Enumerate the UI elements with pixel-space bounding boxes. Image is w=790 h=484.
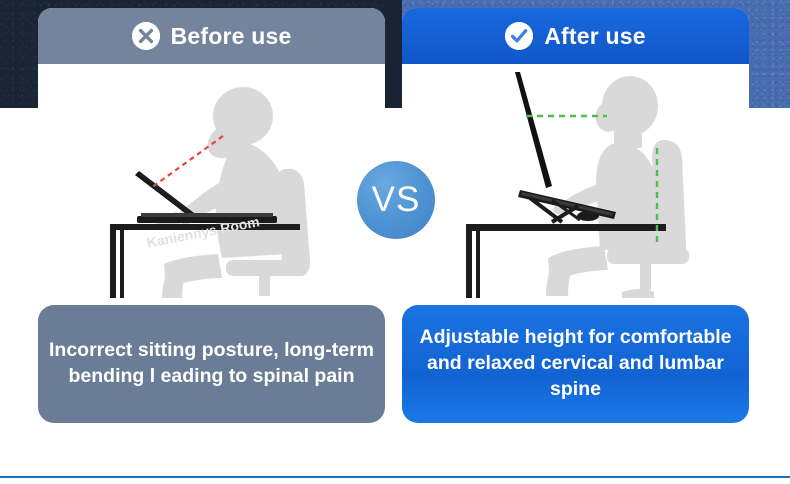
upright-posture-illustration (402, 64, 749, 298)
after-use-card: After use (402, 8, 749, 298)
bottom-divider (0, 476, 790, 478)
vs-badge: VS (357, 161, 435, 239)
after-use-caption: Adjustable height for comfortable and re… (412, 325, 739, 403)
after-illustration-svg (402, 64, 749, 298)
cross-circle-icon (132, 22, 160, 50)
before-use-header: Before use (38, 8, 385, 64)
after-use-title: After use (544, 23, 646, 50)
comparison-infographic: Before use (0, 0, 790, 484)
check-circle-icon (505, 22, 533, 50)
sight-line (151, 136, 223, 188)
hunched-posture-illustration: Kaniennys Room (38, 64, 385, 298)
vs-label: VS (372, 180, 421, 220)
after-use-caption-panel: Adjustable height for comfortable and re… (402, 305, 749, 423)
before-illustration-svg (38, 64, 385, 298)
after-use-header: After use (402, 8, 749, 64)
background-gutter (384, 0, 402, 108)
before-use-card: Before use (38, 8, 385, 298)
before-use-title: Before use (171, 23, 292, 50)
before-use-caption: Incorrect sitting posture, long-term ben… (48, 338, 375, 390)
before-use-caption-panel: Incorrect sitting posture, long-term ben… (38, 305, 385, 423)
